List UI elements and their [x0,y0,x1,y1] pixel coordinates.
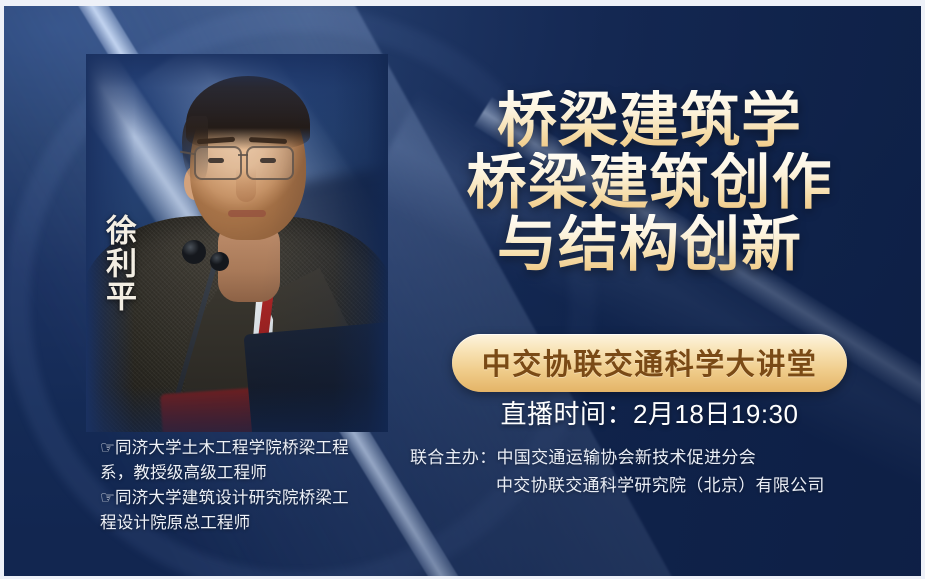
poster-canvas: 徐利平 ☞同济大学土木工程学院桥梁工程 系，教授级高级工程师 ☞同济大学建筑设计… [4,6,921,576]
series-badge: 中交协联交通科学大讲堂 [396,334,903,392]
title-line-3: 与结构创新 [396,214,903,276]
hosts-row-2: 中交协联交通科学研究院（北京）有限公司 [410,472,903,500]
title-line-2: 桥梁建筑创作 [396,152,903,214]
hosts-row-1: 联合主办： 中国交通运输协会新技术促进分会 [410,444,903,472]
hosts-block: 联合主办： 中国交通运输协会新技术促进分会 中交协联交通科学研究院（北京）有限公… [410,444,903,499]
speaker-bio-line-1b: 系，教授级高级工程师 [100,461,400,486]
photo-glasses-bridge [238,154,248,156]
speaker-bio: ☞同济大学土木工程学院桥梁工程 系，教授级高级工程师 ☞同济大学建筑设计研究院桥… [100,436,400,536]
photo-mouth [228,210,266,217]
series-badge-label: 中交协联交通科学大讲堂 [452,334,848,392]
speaker-bio-line-1a: ☞同济大学土木工程学院桥梁工程 [100,436,400,461]
poster-title: 桥梁建筑学 桥梁建筑创作 与结构创新 [396,90,903,275]
speaker-name: 徐利平 [98,214,134,313]
photo-laptop [243,322,388,432]
photo-microphone-head-2 [210,252,229,271]
lecture-poster: 徐利平 ☞同济大学土木工程学院桥梁工程 系，教授级高级工程师 ☞同济大学建筑设计… [0,0,925,579]
hosts-org-2: 中交协联交通科学研究院（北京）有限公司 [496,472,825,500]
speaker-bio-line-2a: ☞同济大学建筑设计研究院桥梁工 [100,486,400,511]
poster-right-column: 桥梁建筑学 桥梁建筑创作 与结构创新 中交协联交通科学大讲堂 直播时间：2月18… [396,6,921,576]
speaker-bio-line-2b: 程设计院原总工程师 [100,511,400,536]
photo-microphone-head-1 [182,240,206,264]
photo-glasses-left-lens [194,146,242,180]
live-time: 直播时间：2月18日19:30 [396,394,903,431]
hosts-label: 联合主办： [410,444,497,472]
title-line-1: 桥梁建筑学 [396,90,903,152]
hosts-org-1: 中国交通运输协会新技术促进分会 [497,444,757,472]
photo-nose [236,168,256,202]
